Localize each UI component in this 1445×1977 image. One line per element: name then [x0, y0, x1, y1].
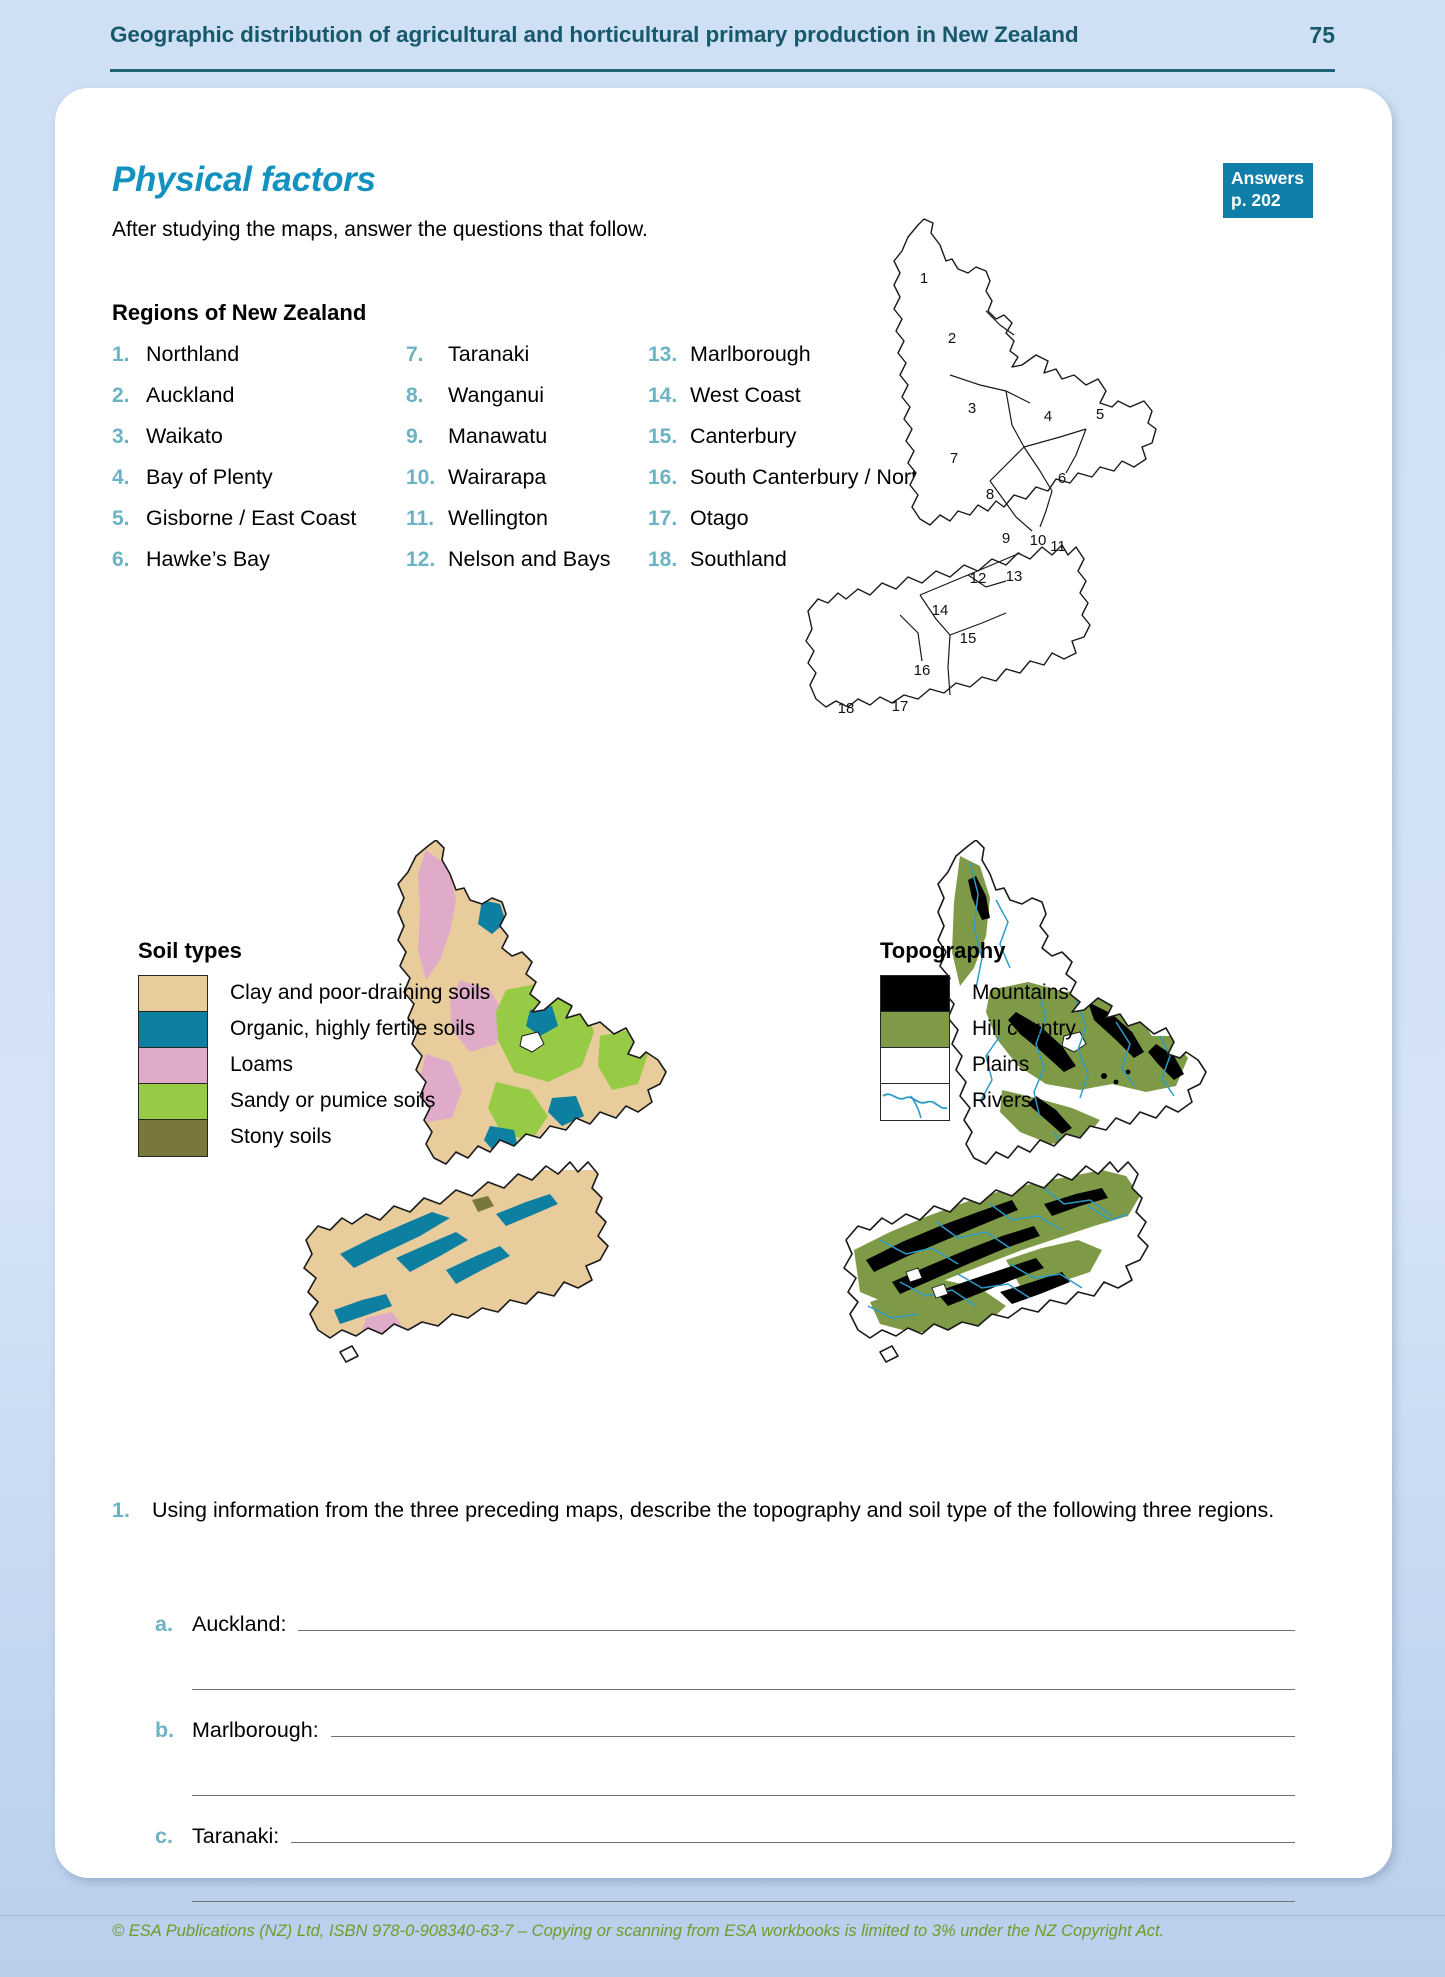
region-name: West Coast: [690, 383, 801, 408]
answer-line[interactable]: [331, 1736, 1295, 1737]
subquestion-letter: b.: [155, 1718, 192, 1743]
river-icon: [881, 1084, 949, 1119]
list-item: 2.Auckland: [112, 383, 392, 424]
svg-text:16: 16: [914, 662, 931, 679]
region-name: Wellington: [448, 506, 548, 531]
subquestion-a: a. Auckland:: [155, 1612, 1295, 1690]
region-name: Manawatu: [448, 424, 547, 449]
soil-legend: Clay and poor-draining soils Organic, hi…: [138, 975, 490, 1157]
region-name: Southland: [690, 547, 787, 572]
list-item: 9.Manawatu: [406, 424, 636, 465]
regions-heading: Regions of New Zealand: [112, 300, 366, 326]
subquestion-label: Marlborough:: [192, 1718, 319, 1743]
region-number: 15.: [648, 425, 690, 449]
svg-text:12: 12: [970, 570, 987, 587]
answers-badge: Answers p. 202: [1223, 163, 1313, 218]
region-name: Hawke’s Bay: [146, 547, 270, 572]
topo-legend-label: Mountains: [972, 975, 1076, 1011]
region-number: 6.: [112, 548, 146, 572]
answer-line[interactable]: [192, 1795, 1295, 1796]
region-number: 12.: [406, 548, 448, 572]
topo-swatch-rivers: [881, 1084, 949, 1120]
region-name: Waikato: [146, 424, 223, 449]
svg-text:5: 5: [1096, 406, 1104, 423]
region-number: 4.: [112, 466, 146, 490]
region-number: 17.: [648, 507, 690, 531]
topography-legend: Mountains Hill country Plains Rivers: [880, 975, 1076, 1121]
region-number: 18.: [648, 548, 690, 572]
question-number: 1.: [112, 1495, 152, 1526]
region-number: 13.: [648, 343, 690, 367]
soil-swatch-sandy: [139, 1084, 207, 1120]
list-item: 4.Bay of Plenty: [112, 465, 392, 506]
answers-page: p. 202: [1231, 189, 1307, 211]
page-header: Geographic distribution of agricultural …: [110, 18, 1335, 72]
answers-label: Answers: [1231, 167, 1307, 189]
svg-text:9: 9: [1002, 530, 1010, 547]
topo-swatch-hill: [881, 1012, 949, 1048]
list-item: 5.Gisborne / East Coast: [112, 506, 392, 547]
svg-text:18: 18: [838, 700, 855, 715]
soil-legend-label: Loams: [230, 1047, 490, 1083]
soil-legend-label: Stony soils: [230, 1119, 490, 1155]
list-item: 6.Hawke’s Bay: [112, 547, 392, 588]
svg-text:11: 11: [1050, 538, 1066, 555]
copyright-text: © ESA Publications (NZ) Ltd, ISBN 978-0-…: [112, 1922, 1164, 1941]
svg-text:15: 15: [960, 630, 977, 647]
region-name: Gisborne / East Coast: [146, 506, 356, 531]
header-title: Geographic distribution of agricultural …: [110, 18, 1079, 48]
region-name: Northland: [146, 342, 239, 367]
region-name: Marlborough: [690, 342, 811, 367]
region-number: 11.: [406, 507, 448, 531]
svg-text:7: 7: [950, 450, 958, 467]
region-name: Nelson and Bays: [448, 547, 611, 572]
soil-label-column: Clay and poor-draining soils Organic, hi…: [208, 975, 490, 1157]
svg-text:8: 8: [986, 486, 994, 503]
region-name: Canterbury: [690, 424, 796, 449]
regions-column-1: 1.Northland 2.Auckland 3.Waikato 4.Bay o…: [112, 342, 392, 588]
topo-legend-label: Plains: [972, 1047, 1076, 1083]
soil-legend-label: Clay and poor-draining soils: [230, 975, 490, 1011]
subquestion-b-head: b. Marlborough:: [155, 1718, 1295, 1743]
question-1: 1. Using information from the three prec…: [112, 1495, 1292, 1526]
svg-text:2: 2: [948, 330, 956, 347]
topo-swatch-plains: [881, 1048, 949, 1084]
page-title: Physical factors: [112, 160, 376, 200]
subquestion-b: b. Marlborough:: [155, 1718, 1295, 1796]
regions-map: 1 2 3 4 5 6 7 8 9 10 11 12 13 14 15 16 1…: [800, 215, 1220, 715]
region-name: Auckland: [146, 383, 234, 408]
soil-swatch-clay: [139, 976, 207, 1012]
region-name: Wanganui: [448, 383, 544, 408]
topo-swatch-mountains: [881, 976, 949, 1012]
list-item: 12.Nelson and Bays: [406, 547, 636, 588]
region-number: 5.: [112, 507, 146, 531]
list-item: 10.Wairarapa: [406, 465, 636, 506]
region-number: 8.: [406, 384, 448, 408]
workbook-page: Geographic distribution of agricultural …: [0, 0, 1445, 1977]
region-number: 2.: [112, 384, 146, 408]
answer-line[interactable]: [291, 1842, 1295, 1843]
question-text: Using information from the three precedi…: [152, 1495, 1274, 1526]
topo-label-column: Mountains Hill country Plains Rivers: [950, 975, 1076, 1121]
svg-text:1: 1: [920, 270, 928, 287]
list-item: 11.Wellington: [406, 506, 636, 547]
intro-text: After studying the maps, answer the ques…: [112, 218, 648, 242]
answer-line[interactable]: [298, 1630, 1295, 1631]
list-item: 1.Northland: [112, 342, 392, 383]
region-number: 3.: [112, 425, 146, 449]
soil-swatch-loams: [139, 1048, 207, 1084]
region-number: 1.: [112, 343, 146, 367]
svg-text:13: 13: [1006, 568, 1023, 585]
subquestion-c: c. Taranaki:: [155, 1824, 1295, 1902]
subquestion-label: Auckland:: [192, 1612, 286, 1637]
topo-legend-label: Hill country: [972, 1011, 1076, 1047]
subquestion-label: Taranaki:: [192, 1824, 279, 1849]
soil-legend-label: Sandy or pumice soils: [230, 1083, 490, 1119]
region-number: 10.: [406, 466, 448, 490]
topography-legend-title: Topography: [880, 938, 1005, 964]
svg-text:3: 3: [968, 400, 976, 417]
svg-text:10: 10: [1030, 532, 1047, 549]
list-item: 3.Waikato: [112, 424, 392, 465]
subquestion-a-head: a. Auckland:: [155, 1612, 1295, 1637]
region-name: Wairarapa: [448, 465, 546, 490]
region-name: Taranaki: [448, 342, 529, 367]
answer-line[interactable]: [192, 1689, 1295, 1690]
page-number: 75: [1309, 18, 1335, 49]
region-number: 9.: [406, 425, 448, 449]
region-number: 16.: [648, 466, 690, 490]
subquestion-c-head: c. Taranaki:: [155, 1824, 1295, 1849]
soil-swatch-stony: [139, 1120, 207, 1156]
region-name: Otago: [690, 506, 749, 531]
region-name: Bay of Plenty: [146, 465, 273, 490]
region-number: 7.: [406, 343, 448, 367]
answer-line[interactable]: [192, 1901, 1295, 1902]
subquestion-letter: c.: [155, 1824, 192, 1849]
list-item: 8.Wanganui: [406, 383, 636, 424]
svg-text:14: 14: [932, 602, 949, 619]
list-item: 7.Taranaki: [406, 342, 636, 383]
topo-legend-label: Rivers: [972, 1083, 1076, 1119]
soil-swatch-column: [138, 975, 208, 1157]
regions-column-2: 7.Taranaki 8.Wanganui 9.Manawatu 10.Wair…: [406, 342, 636, 588]
svg-text:4: 4: [1044, 408, 1052, 425]
region-number: 14.: [648, 384, 690, 408]
svg-text:6: 6: [1058, 470, 1066, 487]
soil-legend-label: Organic, highly fertile soils: [230, 1011, 490, 1047]
svg-text:17: 17: [892, 698, 909, 715]
topo-swatch-column: [880, 975, 950, 1121]
soil-legend-title: Soil types: [138, 938, 242, 964]
soil-swatch-organic: [139, 1012, 207, 1048]
subquestion-letter: a.: [155, 1612, 192, 1637]
